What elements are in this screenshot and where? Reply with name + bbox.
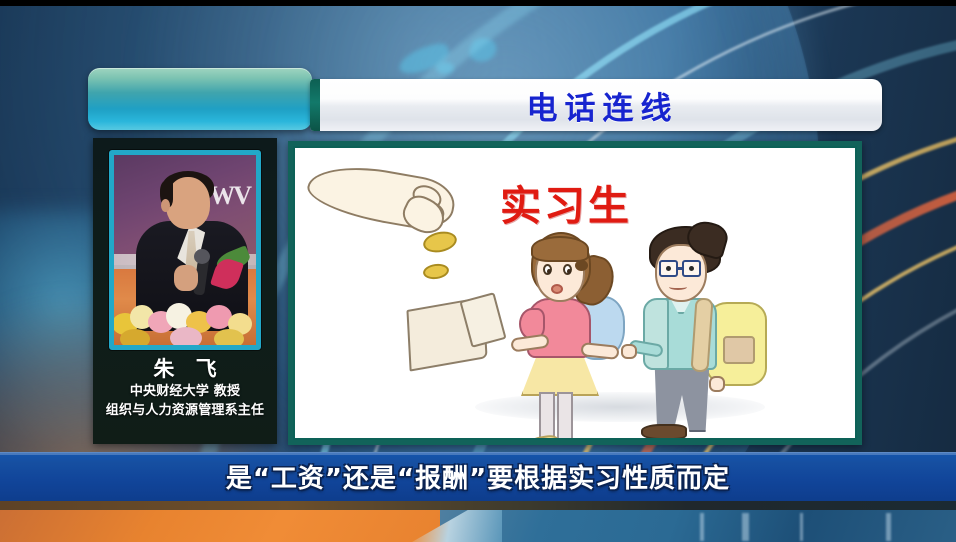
flower-icon xyxy=(120,329,150,345)
glasses-bridge-shape xyxy=(678,267,684,270)
speaker-affiliation-line-2: 组织与人力资源管理系主任 xyxy=(96,401,274,420)
girl-leg-shape xyxy=(539,392,555,440)
bottom-strip-blue-area xyxy=(440,510,956,542)
boy-vest-shape xyxy=(643,298,669,370)
coin-icon xyxy=(422,262,450,280)
caption-text: 是“工资”还是“报酬”要根据实习性质而定 xyxy=(226,458,730,495)
flower-icon xyxy=(170,327,202,345)
illustration-headline: 实习生 xyxy=(500,172,632,232)
girl-hairband-shape xyxy=(575,260,588,271)
girl-pupil-shape xyxy=(567,269,571,274)
speaker-photo: WV xyxy=(109,150,261,350)
teal-accent-banner xyxy=(88,68,312,130)
speaker-ear-shape xyxy=(161,199,170,212)
speaker-name: 朱 飞 xyxy=(96,356,274,382)
backpack-pocket-shape xyxy=(723,336,755,364)
girl-fringe-shape xyxy=(531,236,589,262)
girl-eye-shape xyxy=(543,264,552,275)
top-black-bar xyxy=(0,0,956,6)
bottom-strip-dark-edge xyxy=(0,501,956,510)
girl-mouth-shape xyxy=(551,284,563,294)
illustration-canvas: 实习生 xyxy=(293,146,857,440)
speaker-affiliation-line-1: 中央财经大学 教授 xyxy=(96,382,274,401)
bottom-strip-light-streak xyxy=(700,513,704,541)
bottom-strip-orange-area xyxy=(0,510,478,542)
flower-icon xyxy=(214,329,244,345)
photo-backdrop-text: WV xyxy=(209,181,250,211)
boy-pupil-shape xyxy=(689,266,694,271)
flower-bouquet xyxy=(114,293,256,345)
boy-hand-shape xyxy=(709,376,725,392)
bottom-video-strip xyxy=(0,501,956,542)
boy-student-with-backpack-figure xyxy=(635,226,775,426)
program-title-bar: 电话连线 xyxy=(310,79,882,131)
bottom-strip-light-streak xyxy=(800,513,803,541)
lower-third-caption-bar: 是“工资”还是“报酬”要根据实习性质而定 xyxy=(0,452,956,501)
glasses-icon xyxy=(682,260,701,277)
boy-shoe-shape xyxy=(641,424,687,440)
boy-pupil-shape xyxy=(666,266,671,271)
microphone-head-icon xyxy=(194,249,210,264)
speaker-nameplate: 朱 飞 中央财经大学 教授 组织与人力资源管理系主任 xyxy=(96,356,274,440)
speaker-hand-shape xyxy=(174,265,198,291)
bottom-strip-light-streak xyxy=(742,513,749,541)
glasses-icon xyxy=(659,260,678,277)
boy-pants-shape xyxy=(651,366,713,432)
girl-student-figure xyxy=(513,232,623,422)
speaker-photo-image: WV xyxy=(114,155,256,345)
girl-pupil-shape xyxy=(547,269,551,274)
boy-mouth-shape xyxy=(669,284,687,290)
illustration-frame: 实习生 xyxy=(288,141,862,445)
boy-hand-shape xyxy=(621,344,637,359)
page-title: 电话连线 xyxy=(520,83,679,128)
girl-leg-shape xyxy=(557,392,573,440)
bottom-strip-light-streak xyxy=(886,513,891,541)
girl-eye-shape xyxy=(563,264,572,275)
broadcast-screen: 电话连线 WV xyxy=(0,0,956,542)
